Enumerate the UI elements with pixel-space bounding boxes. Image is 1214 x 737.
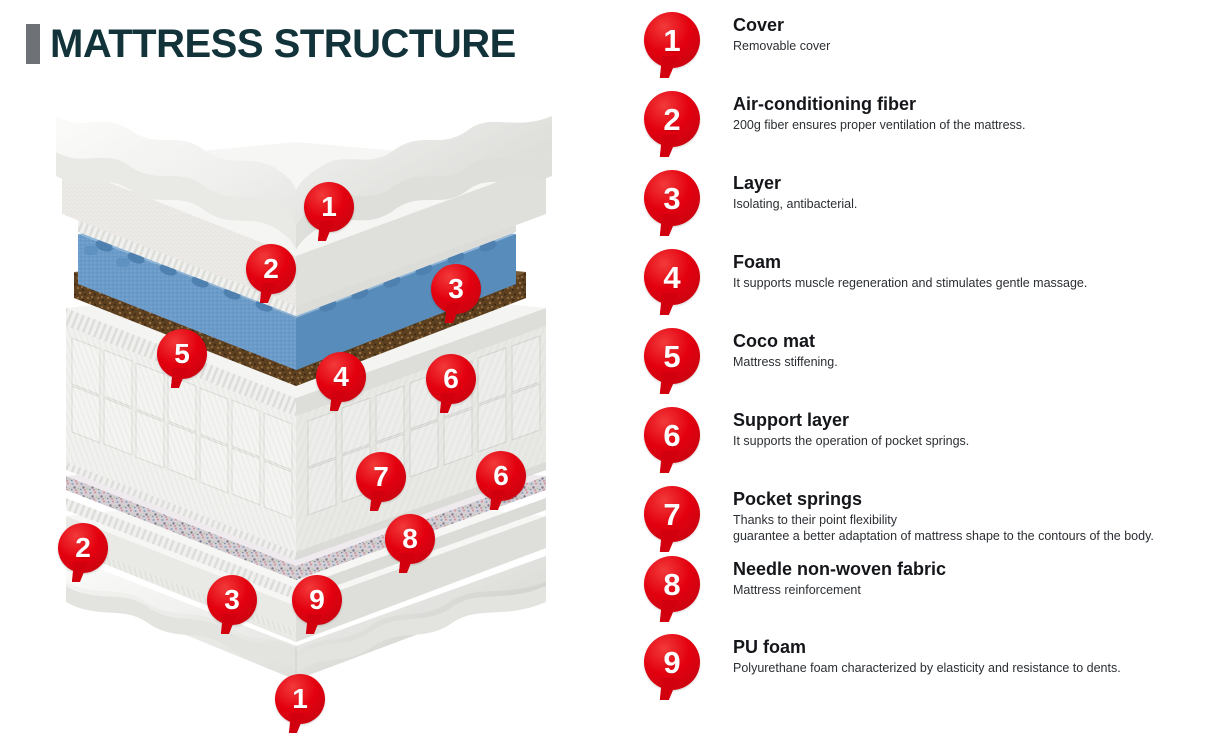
illustration-marker-3-layer: 3 <box>431 264 481 327</box>
marker-number: 5 <box>644 328 700 384</box>
legend-text-2: Air-conditioning fiber 200g fiber ensure… <box>733 93 1203 133</box>
marker-number: 3 <box>644 170 700 226</box>
marker-number: 6 <box>426 354 476 404</box>
marker-number: 9 <box>644 634 700 690</box>
marker-number: 5 <box>157 329 207 379</box>
legend-desc: 200g fiber ensures proper ventilation of… <box>733 117 1203 133</box>
legend-title: Foam <box>733 251 1203 273</box>
illustration-marker-4-foam: 4 <box>316 352 366 415</box>
legend-item-8[interactable]: 8 Needle non-woven fabric Mattress reinf… <box>636 556 1214 635</box>
legend-text-4: Foam It supports muscle regeneration and… <box>733 251 1203 291</box>
legend-desc-line1: Thanks to their point flexibility <box>733 513 897 527</box>
marker-number: 1 <box>275 674 325 724</box>
legend-text-5: Coco mat Mattress stiffening. <box>733 330 1203 370</box>
illustration-marker-5-coco: 5 <box>157 329 207 392</box>
marker-number: 3 <box>207 575 257 625</box>
infographic-page: MATTRESS STRUCTURE <box>0 0 1214 705</box>
legend-desc-line2: guarantee a better adaptation of mattres… <box>733 528 1203 544</box>
legend-title: Air-conditioning fiber <box>733 93 1203 115</box>
legend-text-7: Pocket springs Thanks to their point fle… <box>733 488 1203 544</box>
legend-desc: Polyurethane foam characterized by elast… <box>733 660 1203 676</box>
marker-number: 9 <box>292 575 342 625</box>
legend-desc: Mattress stiffening. <box>733 354 1203 370</box>
legend-item-7[interactable]: 7 Pocket springs Thanks to their point f… <box>636 486 1214 565</box>
legend-item-4[interactable]: 4 Foam It supports muscle regeneration a… <box>636 249 1214 328</box>
legend-title: Needle non-woven fabric <box>733 558 1203 580</box>
legend-list: 1 Cover Removable cover 2 Air-conditioni… <box>636 0 1214 705</box>
marker-number: 3 <box>431 264 481 314</box>
legend-desc: Isolating, antibacterial. <box>733 196 1203 212</box>
marker-number: 8 <box>644 556 700 612</box>
legend-item-9[interactable]: 9 PU foam Polyurethane foam characterize… <box>636 634 1214 713</box>
legend-desc: Thanks to their point flexibility guaran… <box>733 512 1203 544</box>
legend-title: Pocket springs <box>733 488 1203 510</box>
legend-title: Support layer <box>733 409 1203 431</box>
marker-number: 2 <box>246 244 296 294</box>
marker-number: 2 <box>58 523 108 573</box>
marker-number: 8 <box>385 514 435 564</box>
legend-item-6[interactable]: 6 Support layer It supports the operatio… <box>636 407 1214 486</box>
marker-number: 4 <box>644 249 700 305</box>
marker-number: 6 <box>644 407 700 463</box>
marker-number: 1 <box>644 12 700 68</box>
legend-item-3[interactable]: 3 Layer Isolating, antibacterial. <box>636 170 1214 249</box>
illustration-marker-1-top: 1 <box>304 182 354 245</box>
marker-number: 2 <box>644 91 700 147</box>
illustration-marker-6-support-lower: 6 <box>476 451 526 514</box>
illustration-marker-2-fiber: 2 <box>246 244 296 307</box>
legend-text-1: Cover Removable cover <box>733 14 1203 54</box>
legend-desc: Mattress reinforcement <box>733 582 1203 598</box>
page-title: MATTRESS STRUCTURE <box>26 24 516 64</box>
legend-desc: It supports the operation of pocket spri… <box>733 433 1203 449</box>
marker-number: 1 <box>304 182 354 232</box>
illustration-marker-9-pufoam: 9 <box>292 575 342 638</box>
illustration-marker-8-needle: 8 <box>385 514 435 577</box>
legend-text-8: Needle non-woven fabric Mattress reinfor… <box>733 558 1203 598</box>
title-text: MATTRESS STRUCTURE <box>50 24 516 64</box>
illustration-marker-7-springs: 7 <box>356 452 406 515</box>
marker-number: 4 <box>316 352 366 402</box>
legend-title: Coco mat <box>733 330 1203 352</box>
illustration-marker-1-bottom: 1 <box>275 674 325 737</box>
legend-text-9: PU foam Polyurethane foam characterized … <box>733 636 1203 676</box>
legend-item-1[interactable]: 1 Cover Removable cover <box>636 12 1214 91</box>
marker-number: 6 <box>476 451 526 501</box>
illustration-marker-6-support-upper: 6 <box>426 354 476 417</box>
mattress-illustration: 1 2 3 5 4 6 7 <box>26 86 586 686</box>
legend-title: PU foam <box>733 636 1203 658</box>
illustration-marker-3-lower: 3 <box>207 575 257 638</box>
marker-number: 7 <box>644 486 700 542</box>
legend-text-6: Support layer It supports the operation … <box>733 409 1203 449</box>
legend-title: Layer <box>733 172 1203 194</box>
legend-text-3: Layer Isolating, antibacterial. <box>733 172 1203 212</box>
legend-desc: Removable cover <box>733 38 1203 54</box>
legend-item-2[interactable]: 2 Air-conditioning fiber 200g fiber ensu… <box>636 91 1214 170</box>
legend-desc: It supports muscle regeneration and stim… <box>733 275 1203 291</box>
legend-item-5[interactable]: 5 Coco mat Mattress stiffening. <box>636 328 1214 407</box>
title-accent-bar <box>26 24 40 64</box>
legend-title: Cover <box>733 14 1203 36</box>
illustration-marker-2-lower: 2 <box>58 523 108 586</box>
marker-number: 7 <box>356 452 406 502</box>
